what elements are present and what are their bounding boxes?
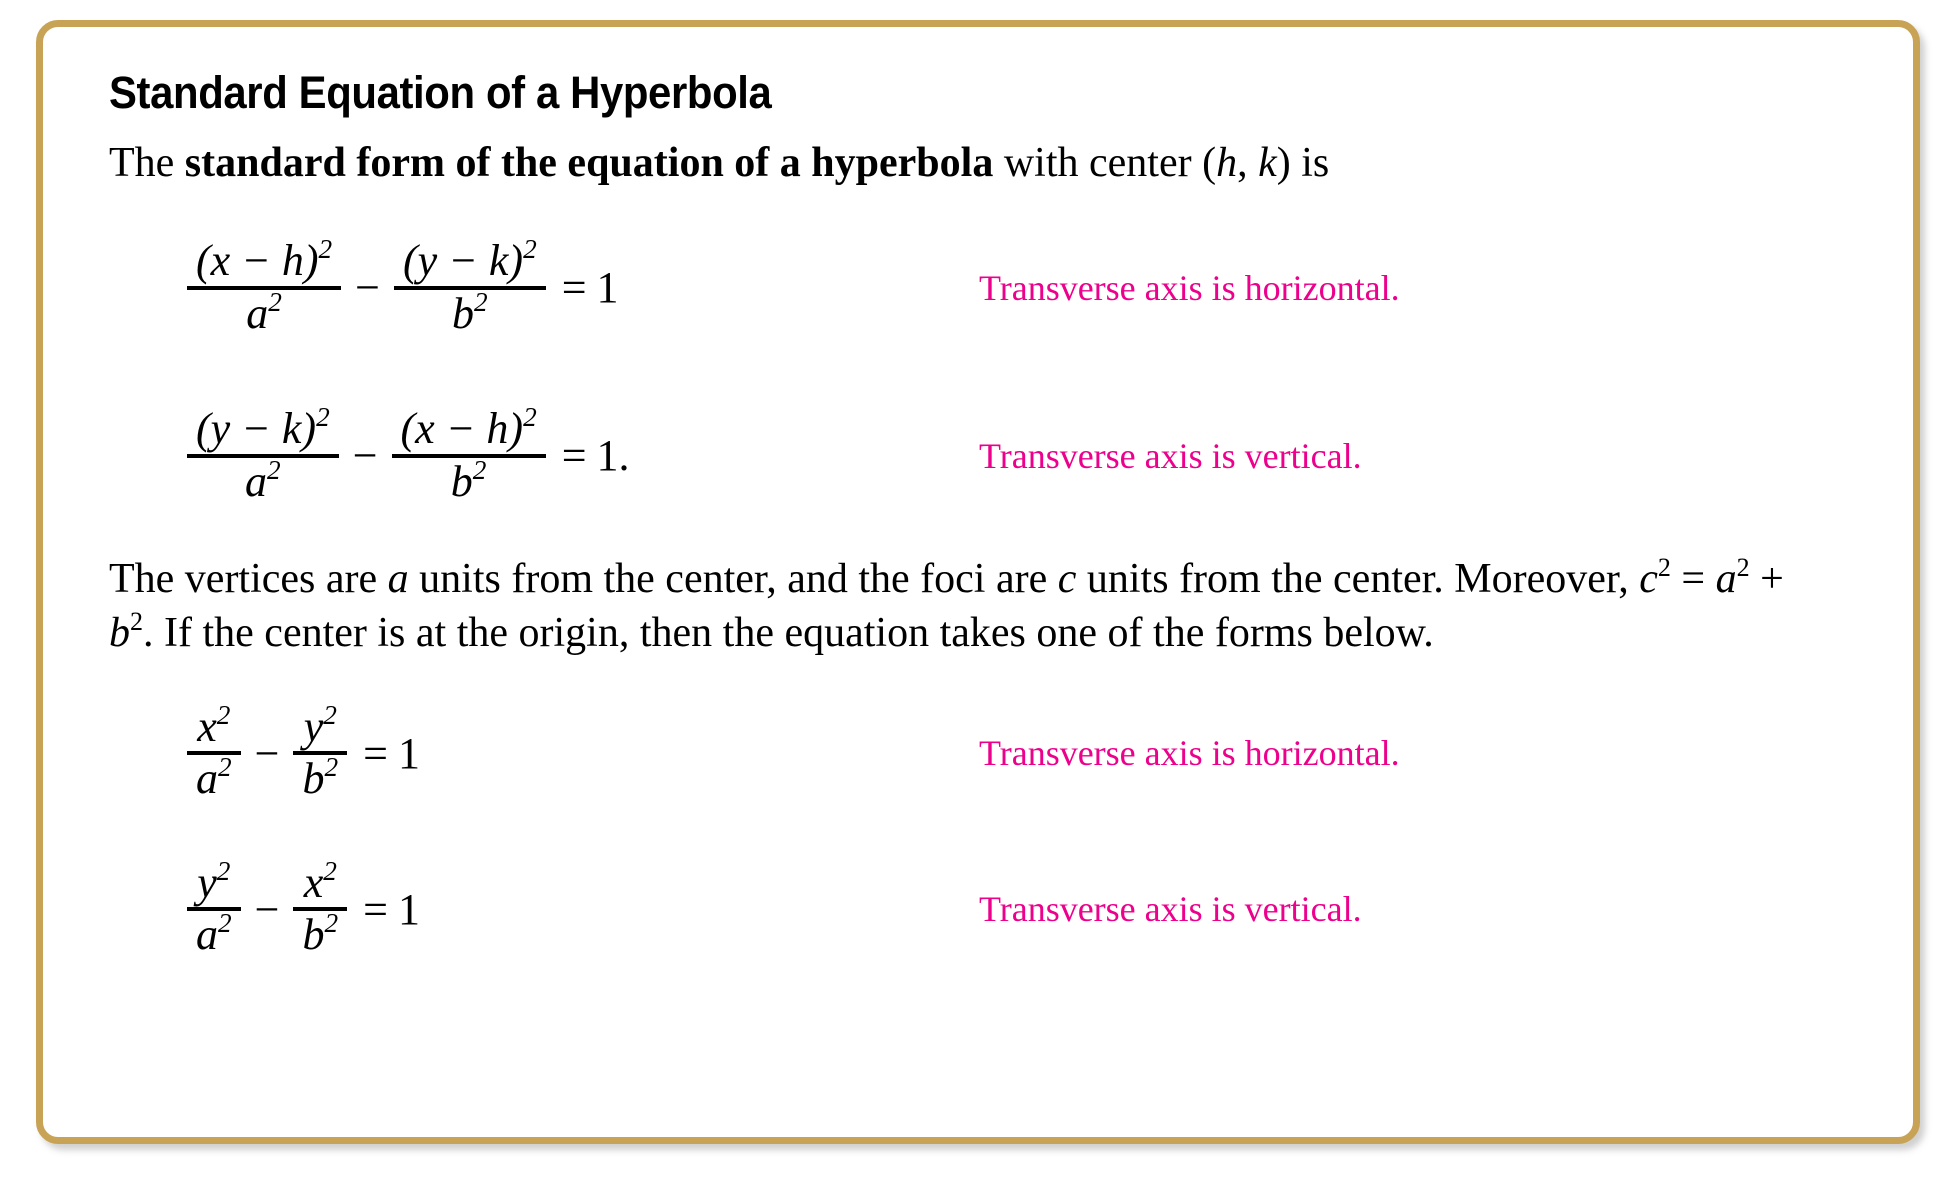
- exponent: 2: [473, 455, 487, 485]
- annotation-transverse-axis: Transverse axis is vertical.: [979, 888, 1362, 930]
- exponent: 2: [323, 700, 337, 730]
- exponent: 2: [1737, 553, 1750, 582]
- body-paragraph: The vertices are a units from the center…: [109, 553, 1789, 661]
- center-open-paren: (: [1202, 140, 1216, 186]
- intro-bold-phrase: standard form of the equation of a hyper…: [185, 140, 994, 186]
- denominator: a2: [187, 755, 241, 804]
- body-s4: center. Moreover,: [1333, 556, 1639, 602]
- numerator: y2: [188, 859, 239, 908]
- right-hand-side: 1: [597, 262, 619, 313]
- exponent: 2: [218, 908, 232, 938]
- equals-sign: =: [347, 884, 398, 935]
- equation-row-origin-horizontal: x2 a2 − y2 b2 = 1 Transverse axis is hor…: [109, 682, 1873, 824]
- exponent: 2: [217, 856, 231, 886]
- numerator: x2: [295, 859, 346, 908]
- var-c-sq: c: [1639, 556, 1658, 602]
- center-k-var: k: [1258, 140, 1277, 186]
- fraction-left: x2 a2: [187, 703, 241, 804]
- annotation-transverse-axis: Transverse axis is horizontal.: [979, 732, 1400, 774]
- definition-card: Standard Equation of a Hyperbola The sta…: [36, 20, 1920, 1144]
- exponent: 2: [523, 234, 537, 264]
- body-s2: units from the center, and the foci are: [409, 556, 1058, 602]
- intro-paragraph: The standard form of the equation of a h…: [109, 137, 1839, 191]
- var-c: c: [1058, 556, 1077, 602]
- intro-tail: is: [1291, 140, 1330, 186]
- equals-sign: =: [546, 262, 597, 313]
- var-a-sq: a: [1716, 556, 1737, 602]
- minus-operator: −: [339, 430, 392, 481]
- var-b-sq: b: [109, 610, 130, 656]
- equals-sign: =: [546, 430, 597, 481]
- center-comma: ,: [1237, 140, 1258, 186]
- body-s5: . If the center is at the origin, then t…: [143, 610, 929, 656]
- numerator: y2: [295, 703, 346, 752]
- fraction-left: (x − h)2 a2: [187, 237, 341, 338]
- card-content: Standard Equation of a Hyperbola The sta…: [109, 67, 1873, 980]
- minus-operator: −: [241, 728, 294, 779]
- equals-sign: =: [347, 728, 398, 779]
- exponent: 2: [1658, 553, 1671, 582]
- equation-origin-horizontal: x2 a2 − y2 b2 = 1: [187, 703, 420, 804]
- exponent: 2: [324, 752, 338, 782]
- exponent: 2: [316, 402, 330, 432]
- exponent: 2: [268, 287, 282, 317]
- body-s3: units from the: [1076, 556, 1322, 602]
- equation-row-center-vertical: (y − k)2 a2 − (x − h)2 b2 = 1. Transvers…: [109, 381, 1873, 531]
- exponent: 2: [324, 908, 338, 938]
- fraction-right: (y − k)2 b2: [394, 237, 546, 338]
- intro-lead: The: [109, 140, 185, 186]
- denominator: b2: [293, 911, 347, 960]
- minus-operator: −: [241, 884, 294, 935]
- equation-row-center-horizontal: (x − h)2 a2 − (y − k)2 b2 = 1 Transverse…: [109, 213, 1873, 363]
- exponent: 2: [217, 700, 231, 730]
- numerator: (x − h)2: [187, 237, 341, 286]
- right-hand-side: 1: [398, 728, 420, 779]
- exponent: 2: [323, 856, 337, 886]
- numerator: (x − h)2: [392, 405, 546, 454]
- fraction-right: (x − h)2 b2: [392, 405, 546, 506]
- center-close-paren: ): [1277, 140, 1291, 186]
- equation-row-origin-vertical: y2 a2 − x2 b2 = 1 Transverse axis is ver…: [109, 838, 1873, 980]
- page-title: Standard Equation of a Hyperbola: [109, 67, 1750, 119]
- equation-center-vertical: (y − k)2 a2 − (x − h)2 b2 = 1.: [187, 405, 630, 506]
- exponent: 2: [267, 455, 281, 485]
- denominator: b2: [442, 458, 496, 507]
- denominator: b2: [443, 290, 497, 339]
- annotation-transverse-axis: Transverse axis is horizontal.: [979, 267, 1400, 309]
- fraction-right: x2 b2: [293, 859, 347, 960]
- exponent: 2: [474, 287, 488, 317]
- denominator: a2: [187, 911, 241, 960]
- numerator: (y − k)2: [394, 237, 546, 286]
- right-hand-side: 1: [398, 884, 420, 935]
- exponent: 2: [218, 752, 232, 782]
- exponent: 2: [319, 234, 333, 264]
- var-a: a: [388, 556, 409, 602]
- equals-sign: =: [1671, 556, 1716, 602]
- numerator: x2: [188, 703, 239, 752]
- numerator: (y − k)2: [187, 405, 339, 454]
- denominator: a2: [237, 290, 291, 339]
- minus-operator: −: [341, 262, 394, 313]
- fraction-left: y2 a2: [187, 859, 241, 960]
- fraction-right: y2 b2: [293, 703, 347, 804]
- intro-tail-before-center: with center: [993, 140, 1202, 186]
- plus-sign: +: [1750, 556, 1784, 602]
- denominator: b2: [293, 755, 347, 804]
- fraction-left: (y − k)2 a2: [187, 405, 339, 506]
- annotation-transverse-axis: Transverse axis is vertical.: [979, 435, 1362, 477]
- denominator: a2: [236, 458, 290, 507]
- right-hand-side: 1.: [597, 430, 630, 481]
- exponent: 2: [130, 606, 143, 635]
- equation-origin-vertical: y2 a2 − x2 b2 = 1: [187, 859, 420, 960]
- center-h-var: h: [1216, 140, 1237, 186]
- body-s6: takes one of the forms below.: [940, 610, 1434, 656]
- exponent: 2: [523, 402, 537, 432]
- body-s1: The vertices are: [109, 556, 388, 602]
- equation-center-horizontal: (x − h)2 a2 − (y − k)2 b2 = 1: [187, 237, 619, 338]
